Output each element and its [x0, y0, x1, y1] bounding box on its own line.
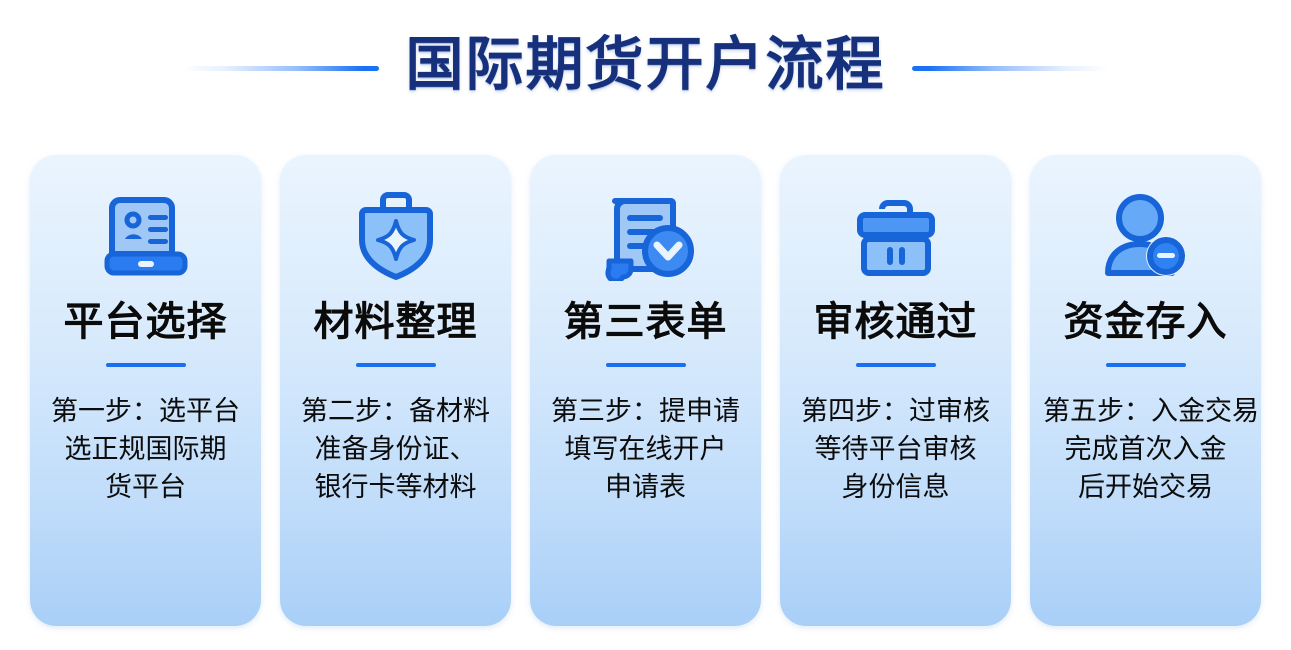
desc-line: 第四步：过审核	[793, 392, 998, 430]
title-rule-left-icon	[181, 66, 379, 71]
step-card-title: 平台选择	[64, 302, 228, 342]
process-steps-row: 平台选择 第一步：选平台 选正规国际期 货平台 材料整理 第二步：备材料 准备身…	[30, 155, 1261, 626]
step-card-description: 第三步：提申请 填写在线开户 申请表	[543, 392, 748, 506]
desc-line: 身份信息	[793, 468, 998, 506]
step-card-platform-selection[interactable]: 平台选择 第一步：选平台 选正规国际期 货平台	[30, 155, 261, 626]
step-card-divider	[1106, 363, 1186, 367]
step-card-review-approved[interactable]: 审核通过 第四步：过审核 等待平台审核 身份信息	[780, 155, 1011, 626]
step-card-divider	[606, 363, 686, 367]
desc-line: 第二步：备材料	[293, 392, 498, 430]
briefcase-icon	[846, 188, 946, 284]
desc-line: 后开始交易	[1043, 468, 1248, 506]
desc-line: 第三步：提申请	[543, 392, 748, 430]
id-card-stand-icon	[96, 188, 196, 284]
step-card-divider	[856, 363, 936, 367]
step-card-title: 第三表单	[564, 302, 728, 342]
step-card-description: 第二步：备材料 准备身份证、 银行卡等材料	[293, 392, 498, 506]
title-rule-right-icon	[912, 66, 1110, 71]
step-card-description: 第五步：入金交易 完成首次入金 后开始交易	[1043, 392, 1248, 506]
step-card-material-preparation[interactable]: 材料整理 第二步：备材料 准备身份证、 银行卡等材料	[280, 155, 511, 626]
user-minus-badge-icon	[1096, 188, 1196, 284]
step-card-title: 材料整理	[314, 302, 478, 342]
document-check-icon	[596, 188, 696, 284]
step-card-application-form[interactable]: 第三表单 第三步：提申请 填写在线开户 申请表	[530, 155, 761, 626]
step-card-divider	[106, 363, 186, 367]
desc-line: 申请表	[543, 468, 748, 506]
step-card-deposit-funds[interactable]: 资金存入 第五步：入金交易 完成首次入金 后开始交易	[1030, 155, 1261, 626]
step-card-title: 资金存入	[1064, 302, 1228, 342]
desc-line: 选正规国际期	[43, 430, 248, 468]
step-card-description: 第一步：选平台 选正规国际期 货平台	[43, 392, 248, 506]
shield-bag-star-icon	[346, 188, 446, 284]
step-card-description: 第四步：过审核 等待平台审核 身份信息	[793, 392, 998, 506]
desc-line: 第一步：选平台	[43, 392, 248, 430]
desc-line: 第五步：入金交易	[1043, 392, 1248, 430]
desc-line: 完成首次入金	[1043, 430, 1248, 468]
step-card-divider	[356, 363, 436, 367]
desc-line: 准备身份证、	[293, 430, 498, 468]
desc-line: 填写在线开户	[543, 430, 748, 468]
desc-line: 银行卡等材料	[293, 468, 498, 506]
desc-line: 等待平台审核	[793, 430, 998, 468]
desc-line: 货平台	[43, 468, 248, 506]
page-title: 国际期货开户流程	[405, 36, 885, 94]
step-card-title: 审核通过	[814, 302, 978, 342]
page-header: 国际期货开户流程	[0, 0, 1291, 130]
